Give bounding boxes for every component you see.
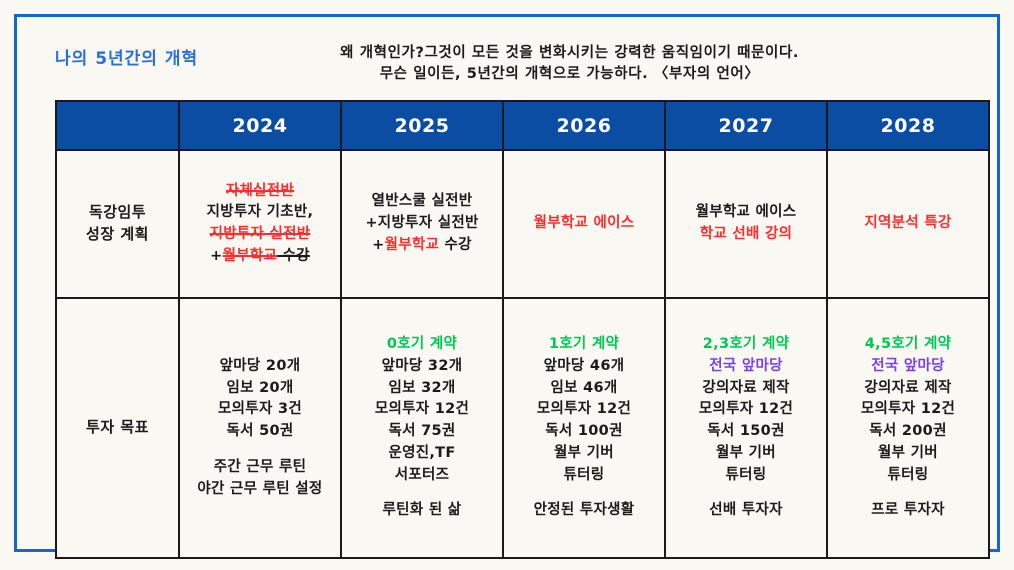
slide-canvas: 나의 5년간의 개혁 왜 개혁인가?그것이 모든 것을 변화시키는 강력한 움직…	[0, 0, 1014, 570]
cell-text-segment: 주간 근무 루틴	[214, 459, 307, 475]
cell-text-segment: 월부학교 에이스	[696, 204, 797, 220]
cell-line: 모의투자 12건	[828, 399, 988, 421]
cell-2025-r1: 0호기 계약앞마당 32개임보 32개모의투자 12건독서 75권운영진,TF서…	[341, 298, 503, 558]
cell-line: 앞마당 46개	[504, 356, 664, 378]
table-body: 독강임투성장 계획자체실전반지방투자 기초반,지방투자 실전반+월부학교 수강열…	[56, 150, 989, 558]
cell-line: 루틴화 된 삶	[342, 500, 502, 522]
table-head: 2024 2025 2026 2027 2028	[56, 101, 989, 150]
cell-2028-r0: 지역분석 특강	[827, 150, 989, 298]
cell-line-spacer	[666, 486, 826, 500]
cell-2027-r1: 2,3호기 계약전국 앞마당강의자료 제작모의투자 12건독서 150권월부 기…	[665, 298, 827, 558]
cell-line: 강의자료 제작	[828, 378, 988, 400]
cell-text-segment: 모의투자 12건	[375, 401, 469, 417]
column-header-year-0: 2024	[179, 101, 341, 150]
cell-2024-r0: 자체실전반지방투자 기초반,지방투자 실전반+월부학교 수강	[179, 150, 341, 298]
cell-line: 독서 75권	[342, 421, 502, 443]
cell-text-segment: 독서 200권	[869, 423, 946, 439]
row-label-line: 투자 목표	[57, 417, 178, 439]
cell-line: +지방투자 실전반	[342, 213, 502, 235]
cell-text-segment: 월부학교	[223, 248, 278, 264]
cell-text-segment: 열반스쿨 실전반	[372, 193, 473, 209]
cell-text-segment: 모의투자 3건	[218, 401, 302, 417]
cell-text-segment: 2,3호기 계약	[703, 336, 790, 352]
cell-text-segment: 프로 투자자	[871, 502, 945, 518]
column-header-year-1: 2025	[341, 101, 503, 150]
cell-text-segment: +	[372, 237, 384, 253]
row-label-1: 투자 목표	[56, 298, 179, 558]
cell-text-segment: 튜터링	[888, 467, 929, 483]
table-row: 투자 목표앞마당 20개임보 20개모의투자 3건독서 50권 주간 근무 루틴…	[56, 298, 989, 558]
cell-line: 지역분석 특강	[828, 213, 988, 235]
column-header-year-4: 2028	[827, 101, 989, 150]
cell-line: 지방투자 기초반,	[180, 202, 340, 224]
cell-line: 월부 기버	[504, 443, 664, 465]
cell-text-segment: 독서 150권	[707, 423, 784, 439]
cell-text-segment: 독서 50권	[226, 423, 293, 439]
cell-line: 4,5호기 계약	[828, 334, 988, 356]
row-label-0: 독강임투성장 계획	[56, 150, 179, 298]
cell-text-segment: 월부학교 에이스	[534, 215, 635, 231]
cell-line: 독서 100권	[504, 421, 664, 443]
cell-text-segment: 1호기 계약	[549, 336, 619, 352]
cell-line: 운영진,TF	[342, 443, 502, 465]
cell-text-segment: 선배 투자자	[709, 502, 783, 518]
cell-2027-r0: 월부학교 에이스학교 선배 강의	[665, 150, 827, 298]
cell-line: +월부학교 수강	[342, 235, 502, 257]
cell-line: 열반스쿨 실전반	[342, 191, 502, 213]
cell-line: +월부학교 수강	[180, 246, 340, 268]
cell-text-segment: 지방투자 기초반,	[207, 204, 314, 220]
cell-line: 모의투자 12건	[504, 399, 664, 421]
cell-line: 서포터즈	[342, 465, 502, 487]
cell-line-spacer	[828, 486, 988, 500]
column-header-year-2: 2026	[503, 101, 665, 150]
cell-2025-r0: 열반스쿨 실전반+지방투자 실전반+월부학교 수강	[341, 150, 503, 298]
cell-line: 1호기 계약	[504, 334, 664, 356]
cell-text-segment: 야간 근무 루틴 설정	[197, 481, 322, 497]
cell-text-segment: 루틴화 된 삶	[383, 502, 462, 518]
cell-text-segment: 튜터링	[726, 467, 767, 483]
cell-line: 월부학교 에이스	[504, 213, 664, 235]
cell-line: 지방투자 실전반	[180, 224, 340, 246]
cell-text-segment: 4,5호기 계약	[865, 336, 952, 352]
cell-text-segment: 모의투자 12건	[537, 401, 631, 417]
cell-line: 강의자료 제작	[666, 378, 826, 400]
cell-line: 모의투자 12건	[666, 399, 826, 421]
title-line: 나의 5년간의 개혁 왜 개혁인가?그것이 모든 것을 변화시키는 강력한 움직…	[55, 43, 989, 85]
cell-line: 임보 20개	[180, 378, 340, 400]
subtitle-block: 왜 개혁인가?그것이 모든 것을 변화시키는 강력한 움직임이기 때문이다.무슨…	[210, 43, 989, 85]
slide-border-frame: 나의 5년간의 개혁 왜 개혁인가?그것이 모든 것을 변화시키는 강력한 움직…	[14, 14, 1000, 552]
subtitle-line-0: 왜 개혁인가?그것이 모든 것을 변화시키는 강력한 움직임이기 때문이다.	[210, 43, 929, 64]
cell-text-segment: +	[210, 248, 222, 264]
cell-line: 학교 선배 강의	[666, 224, 826, 246]
cell-line: 임보 32개	[342, 378, 502, 400]
cell-line: 독서 50권	[180, 421, 340, 443]
cell-text-segment: 강의자료 제작	[702, 380, 789, 396]
cell-text-segment: 수강	[277, 248, 310, 264]
cell-line: 모의투자 12건	[342, 399, 502, 421]
cell-line: 튜터링	[828, 465, 988, 487]
cell-line: 앞마당 20개	[180, 356, 340, 378]
cell-2024-r1: 앞마당 20개임보 20개모의투자 3건독서 50권 주간 근무 루틴야간 근무…	[179, 298, 341, 558]
cell-line: 튜터링	[666, 465, 826, 487]
header-area: 나의 5년간의 개혁 왜 개혁인가?그것이 모든 것을 변화시키는 강력한 움직…	[55, 43, 989, 99]
cell-line: 0호기 계약	[342, 334, 502, 356]
cell-line: 월부학교 에이스	[666, 202, 826, 224]
row-label-line: 성장 계획	[57, 224, 178, 246]
cell-text-segment: 모의투자 12건	[861, 401, 955, 417]
cell-text-segment: 지방투자 실전반	[210, 226, 311, 242]
cell-text-segment: 안정된 투자생활	[534, 502, 635, 518]
cell-line: 선배 투자자	[666, 500, 826, 522]
cell-text-segment: 임보 46개	[550, 380, 617, 396]
cell-text-segment: 자체실전반	[226, 183, 294, 199]
table-row: 독강임투성장 계획자체실전반지방투자 기초반,지방투자 실전반+월부학교 수강열…	[56, 150, 989, 298]
cell-2026-r1: 1호기 계약앞마당 46개임보 46개모의투자 12건독서 100권월부 기버튜…	[503, 298, 665, 558]
cell-text-segment: 임보 32개	[388, 380, 455, 396]
table-corner-header	[56, 101, 179, 150]
cell-line: 모의투자 3건	[180, 399, 340, 421]
cell-line: 독서 150권	[666, 421, 826, 443]
cell-line: 월부 기버	[666, 443, 826, 465]
cell-text-segment: 독서 100권	[545, 423, 622, 439]
cell-line: 야간 근무 루틴 설정	[180, 479, 340, 501]
cell-text-segment: 월부 기버	[554, 445, 614, 461]
cell-text-segment: 독서 75권	[388, 423, 455, 439]
cell-line: 전국 앞마당	[828, 356, 988, 378]
cell-text-segment: 모의투자 12건	[699, 401, 793, 417]
cell-line-spacer	[180, 443, 340, 457]
subtitle-line-1: 무슨 일이든, 5년간의 개혁으로 가능하다. 〈부자의 언어〉	[210, 64, 929, 85]
cell-line-spacer	[342, 486, 502, 500]
cell-line: 프로 투자자	[828, 500, 988, 522]
cell-text-segment: 학교 선배 강의	[700, 226, 793, 242]
cell-text-segment: 지역분석 특강	[864, 215, 951, 231]
column-header-year-3: 2027	[665, 101, 827, 150]
cell-text-segment: 서포터즈	[395, 467, 450, 483]
cell-line: 자체실전반	[180, 181, 340, 203]
cell-text-segment: 강의자료 제작	[864, 380, 951, 396]
cell-line: 주간 근무 루틴	[180, 457, 340, 479]
cell-2028-r1: 4,5호기 계약전국 앞마당강의자료 제작모의투자 12건독서 200권월부 기…	[827, 298, 989, 558]
cell-line-spacer	[504, 486, 664, 500]
cell-line: 앞마당 32개	[342, 356, 502, 378]
cell-line: 임보 46개	[504, 378, 664, 400]
five-year-plan-table: 2024 2025 2026 2027 2028 독강임투성장 계획자체실전반지…	[55, 100, 990, 559]
cell-text-segment: 월부 기버	[716, 445, 776, 461]
cell-line: 월부 기버	[828, 443, 988, 465]
cell-line: 독서 200권	[828, 421, 988, 443]
cell-text-segment: 0호기 계약	[387, 336, 457, 352]
cell-text-segment: 전국 앞마당	[709, 358, 783, 374]
cell-text-segment: 수강	[439, 237, 472, 253]
cell-text-segment: +지방투자 실전반	[365, 215, 478, 231]
cell-text-segment: 튜터링	[564, 467, 605, 483]
cell-2026-r0: 월부학교 에이스	[503, 150, 665, 298]
cell-line: 안정된 투자생활	[504, 500, 664, 522]
cell-text-segment: 월부 기버	[878, 445, 938, 461]
row-label-line: 독강임투	[57, 202, 178, 224]
cell-line: 전국 앞마당	[666, 356, 826, 378]
cell-text-segment: 앞마당 46개	[544, 358, 625, 374]
page-title: 나의 5년간의 개혁	[55, 43, 198, 69]
cell-line: 2,3호기 계약	[666, 334, 826, 356]
cell-text-segment: 임보 20개	[226, 380, 293, 396]
cell-text-segment: 운영진,TF	[388, 445, 455, 461]
cell-text-segment: 앞마당 32개	[382, 358, 463, 374]
table-header-row: 2024 2025 2026 2027 2028	[56, 101, 989, 150]
cell-text-segment: 앞마당 20개	[220, 358, 301, 374]
cell-line: 튜터링	[504, 465, 664, 487]
cell-text-segment: 전국 앞마당	[871, 358, 945, 374]
cell-text-segment: 월부학교	[385, 237, 440, 253]
